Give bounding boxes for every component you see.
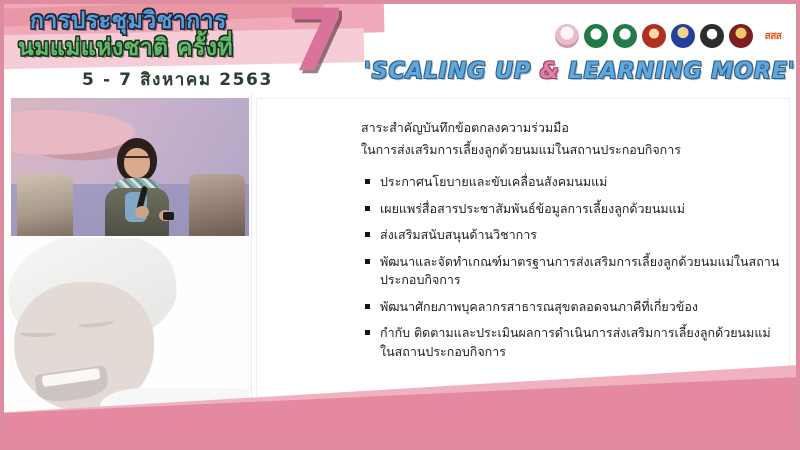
- conference-tagline: 'SCALING UP & LEARNING MORE': [364, 59, 796, 84]
- tagline-prefix: 'SCALING UP: [364, 59, 540, 84]
- video-chair-left: [17, 174, 73, 236]
- conference-title-line-1: การประชุมวิชาการ: [30, 10, 227, 33]
- slide-border-right: [796, 0, 800, 450]
- lead-line-1: สาระสำคัญบันทึกข้อตกลงความร่วมมือ: [361, 117, 781, 139]
- remote-clicker-icon: [163, 212, 174, 220]
- royal-emblem-logo: [555, 24, 579, 48]
- sponsor-logo-row: สสส: [555, 24, 788, 48]
- slide-header: การประชุมวิชาการ นมแม่แห่งชาติ ครั้งที่ …: [4, 4, 796, 92]
- list-item: เผยแพร่สื่อสารประชาสัมพันธ์ข้อมูลการเลี้…: [365, 200, 785, 219]
- slide-border-bottom: [0, 446, 800, 450]
- maroon-crest-logo: [729, 24, 753, 48]
- video-chair-right: [189, 174, 245, 236]
- conference-title-line-2: นมแม่แห่งชาติ ครั้งที่: [18, 37, 233, 60]
- panel-divider: [251, 92, 252, 432]
- tagline-ampersand: &: [540, 59, 560, 84]
- tagline-suffix: LEARNING MORE': [560, 59, 796, 84]
- conference-date-range: 5 - 7 สิงหาคม 2563: [82, 66, 273, 92]
- red-crest-logo: [642, 24, 666, 48]
- speaker-face: [124, 148, 150, 178]
- presentation-slide: การประชุมวิชาการ นมแม่แห่งชาติ ครั้งที่ …: [0, 0, 800, 450]
- thaihealth-sss-logo: สสส: [758, 24, 788, 48]
- video-speaker-figure: [95, 136, 179, 236]
- lead-paragraph: สาระสำคัญบันทึกข้อตกลงความร่วมมือ ในการส…: [361, 117, 781, 161]
- navy-crest-logo: [671, 24, 695, 48]
- dark-crest-logo: [700, 24, 724, 48]
- bullet-list: ประกาศนโยบายและขับเคลื่อนสังคมนมแม่ เผยแ…: [365, 173, 785, 369]
- ministry-health-logo-1: [584, 24, 608, 48]
- lead-line-2: ในการส่งเสริมการเลี้ยงลูกด้วยนมแม่ในสถาน…: [361, 139, 781, 161]
- speaker-video-inset[interactable]: [11, 98, 249, 236]
- list-item: ส่งเสริมสนับสนุนด้านวิชาการ: [365, 226, 785, 245]
- list-item: พัฒนาศักยภาพบุคลากรสาธารณสุขตลอดจนภาคีที…: [365, 298, 785, 317]
- conference-edition-number: 7: [286, 4, 346, 84]
- list-item: ประกาศนโยบายและขับเคลื่อนสังคมนมแม่: [365, 173, 785, 192]
- slide-body: สาระสำคัญบันทึกข้อตกลงความร่วมมือ ในการส…: [4, 92, 796, 446]
- child-eye-left: [20, 330, 56, 337]
- glasses-icon: [125, 156, 149, 161]
- list-item: พัฒนาและจัดทำเกณฑ์มาตรฐานการส่งเสริมการเ…: [365, 253, 785, 290]
- ministry-health-logo-2: [613, 24, 637, 48]
- list-item: กำกับ ติดตามและประเมินผลการดำเนินการส่งเ…: [365, 324, 785, 361]
- speaker-hand-left: [135, 206, 149, 218]
